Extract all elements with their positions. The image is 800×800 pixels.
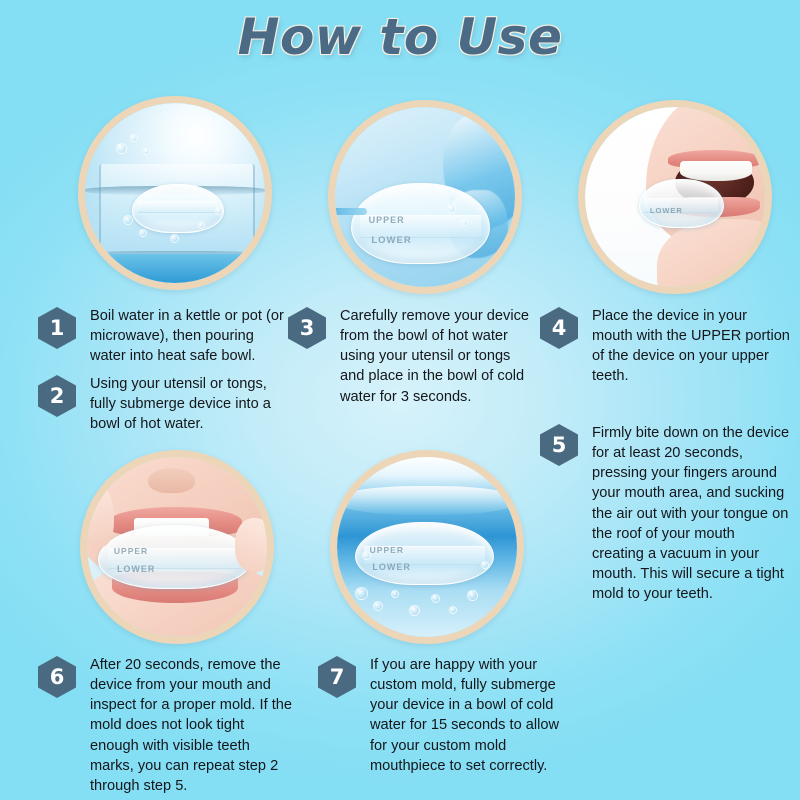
- bubble-icon: [391, 590, 399, 598]
- device-lower-label: LOWER: [372, 562, 411, 572]
- step-2: 2 Using your utensil or tongs, fully sub…: [38, 374, 290, 434]
- step-5-badge: 5: [540, 424, 578, 466]
- bubble-icon: [123, 215, 133, 225]
- water-stream: [335, 208, 367, 215]
- infographic-page: How to Use UPPER: [0, 0, 800, 800]
- device-lower-label: LOWER: [117, 564, 156, 574]
- bubble-icon: [355, 587, 368, 600]
- step-6-badge: 6: [38, 656, 76, 698]
- photo-smiling-mouth-placing-device: LOWER: [578, 100, 772, 294]
- step-1-badge: 1: [38, 307, 76, 349]
- step-7: 7 If you are happy with your custom mold…: [318, 655, 570, 776]
- nose-shape: [148, 468, 195, 493]
- water-pool: [85, 254, 265, 283]
- bubble-icon: [170, 234, 179, 243]
- bubble-icon: [467, 590, 478, 601]
- finger-shape: [87, 486, 114, 547]
- photo-5-content: UPPER LOWER: [337, 457, 517, 637]
- mouthguard-shape: LOWER: [639, 179, 724, 228]
- bubble-icon: [116, 143, 127, 154]
- device-upper-label: UPPER: [114, 546, 148, 556]
- photo-device-in-mouth-fingers-pressing: UPPER LOWER: [80, 450, 274, 644]
- water-surface-line: [337, 486, 517, 515]
- device-upper-label: UPPER: [369, 215, 405, 225]
- mouthguard-band: [138, 201, 217, 213]
- mouthguard-shape: UPPER LOWER: [355, 522, 494, 585]
- mouthguard-shape: UPPER LOWER: [98, 525, 251, 588]
- photo-mouthguard-with-pouring-water: UPPER LOWER: [328, 100, 522, 294]
- step-4: 4 Place the device in your mouth with th…: [540, 306, 790, 387]
- step-7-text: If you are happy with your custom mold, …: [370, 655, 570, 776]
- photo-mouthguard-in-glass-bowl: [78, 96, 272, 290]
- photo-3-content: LOWER: [585, 107, 765, 287]
- photo-2-content: UPPER LOWER: [335, 107, 515, 287]
- upper-teeth-shape: [680, 161, 752, 181]
- step-5: 5 Firmly bite down on the device for at …: [540, 423, 790, 604]
- device-lower-label: LOWER: [650, 206, 683, 215]
- bubble-icon: [431, 594, 440, 603]
- bubble-icon: [362, 551, 371, 560]
- page-title: How to Use: [238, 8, 563, 66]
- step-6-text: After 20 seconds, remove the device from…: [90, 655, 292, 796]
- step-3-text: Carefully remove your device from the bo…: [340, 306, 536, 407]
- bubble-icon: [409, 605, 420, 616]
- mouthguard-shape: [132, 184, 224, 233]
- step-1: 1 Boil water in a kettle or pot (or micr…: [38, 306, 290, 366]
- bubble-icon: [373, 601, 383, 611]
- step-7-badge: 7: [318, 656, 356, 698]
- step-1-text: Boil water in a kettle or pot (or microw…: [90, 306, 290, 366]
- step-6: 6 After 20 seconds, remove the device fr…: [38, 655, 292, 796]
- photo-4-content: UPPER LOWER: [87, 457, 267, 637]
- title-container: How to Use: [0, 8, 800, 66]
- bubble-icon: [130, 134, 138, 142]
- step-3-badge: 3: [288, 307, 326, 349]
- step-5-text: Firmly bite down on the device for at le…: [592, 423, 790, 604]
- device-upper-label: UPPER: [370, 545, 404, 555]
- photo-1-content: [85, 103, 265, 283]
- device-lower-label: LOWER: [371, 235, 411, 246]
- bubble-icon: [449, 606, 457, 614]
- bubble-icon: [139, 229, 147, 237]
- finger-shape: [235, 518, 267, 572]
- step-2-badge: 2: [38, 375, 76, 417]
- mouthguard-shape: UPPER LOWER: [351, 183, 490, 264]
- step-4-badge: 4: [540, 307, 578, 349]
- step-2-text: Using your utensil or tongs, fully subme…: [90, 374, 290, 434]
- bubble-icon: [215, 207, 223, 215]
- step-3: 3 Carefully remove your device from the …: [288, 306, 536, 407]
- bubble-icon: [461, 219, 468, 226]
- step-4-text: Place the device in your mouth with the …: [592, 306, 790, 387]
- photo-device-submerged-cold-water: UPPER LOWER: [330, 450, 524, 644]
- bubble-icon: [447, 204, 456, 213]
- bubble-icon: [143, 148, 150, 155]
